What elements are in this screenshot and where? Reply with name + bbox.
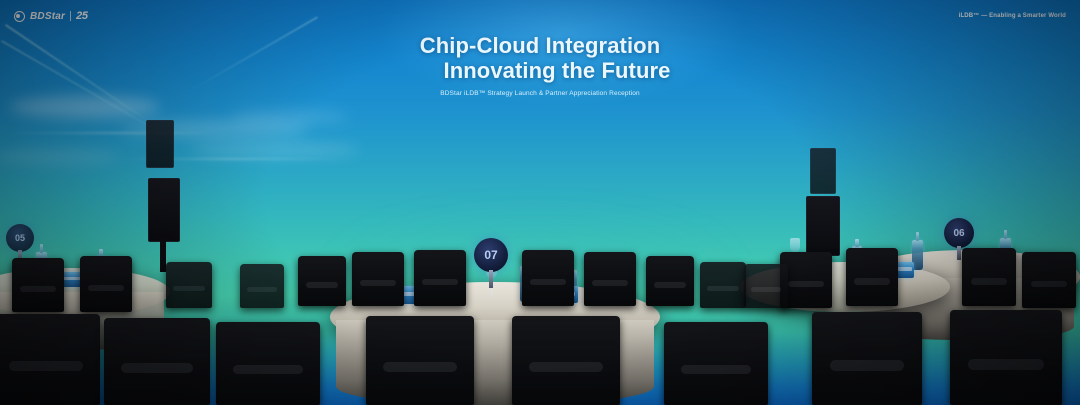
banquet-chair xyxy=(1022,252,1076,308)
table-number-value: 05 xyxy=(15,233,25,243)
banquet-chair-foreground xyxy=(812,312,922,405)
event-subtitle: BDStar iLDB™ Strategy Launch & Partner A… xyxy=(18,90,1062,97)
banquet-chair-mid xyxy=(744,264,788,308)
table-sign-post xyxy=(489,270,493,288)
brand-divider xyxy=(70,11,71,21)
banquet-chair-mid xyxy=(700,262,746,308)
banquet-chair xyxy=(298,256,346,306)
pa-speaker-right xyxy=(806,196,840,256)
banquet-chair xyxy=(12,258,64,312)
banquet-chair xyxy=(846,248,898,306)
banquet-chair-foreground xyxy=(216,322,320,405)
banquet-chair xyxy=(352,252,404,306)
banquet-chair-foreground xyxy=(366,316,474,405)
banquet-chair xyxy=(522,250,574,306)
event-title-line-2: Innovating the Future xyxy=(52,59,1062,84)
wine-glass xyxy=(790,238,800,252)
pa-speaker-left xyxy=(148,178,180,242)
anniversary-badge: 25 xyxy=(76,10,88,22)
cloud-wisp xyxy=(190,142,360,158)
pa-speaker-left-lower xyxy=(146,120,174,168)
banquet-chair-foreground xyxy=(512,316,620,405)
screen-header-bar: BDStar 25 iLDB™ — Enabling a Smarter Wor… xyxy=(0,8,1080,24)
cloud-wisp xyxy=(230,110,350,124)
table-number-value: 07 xyxy=(484,248,497,262)
banquet-chair xyxy=(414,250,466,306)
banquet-chair-mid xyxy=(240,264,284,308)
event-title-line-1: Chip-Cloud Integration xyxy=(18,34,1062,59)
event-hall-photo: BDStar 25 iLDB™ — Enabling a Smarter Wor… xyxy=(0,0,1080,405)
brand-lockup: BDStar 25 xyxy=(14,10,88,22)
banquet-chair xyxy=(80,256,132,312)
banquet-chair-mid xyxy=(166,262,212,308)
banquet-chair xyxy=(646,256,694,306)
banquet-chair xyxy=(584,252,636,306)
table-sign-post xyxy=(957,246,961,260)
pa-speaker-right-upper xyxy=(810,148,836,194)
banquet-chair xyxy=(962,248,1016,306)
table-number-sign-05: 05 xyxy=(6,224,34,252)
banquet-chair-foreground xyxy=(104,318,210,405)
product-tagline: iLDB™ — Enabling a Smarter World xyxy=(959,13,1066,19)
screen-title-block: Chip-Cloud Integration Innovating the Fu… xyxy=(0,34,1080,97)
brand-name: BDStar xyxy=(30,11,65,22)
table-number-sign-06: 06 xyxy=(944,218,974,248)
table-number-value: 06 xyxy=(953,228,964,239)
cloud-wisp xyxy=(0,150,120,164)
bdstar-logo-icon xyxy=(14,11,25,22)
banquet-chair-foreground xyxy=(950,310,1062,405)
table-number-sign-07: 07 xyxy=(474,238,508,272)
banquet-chair-foreground xyxy=(664,322,768,405)
banquet-chair-foreground xyxy=(0,314,100,405)
light-streak xyxy=(8,132,218,134)
